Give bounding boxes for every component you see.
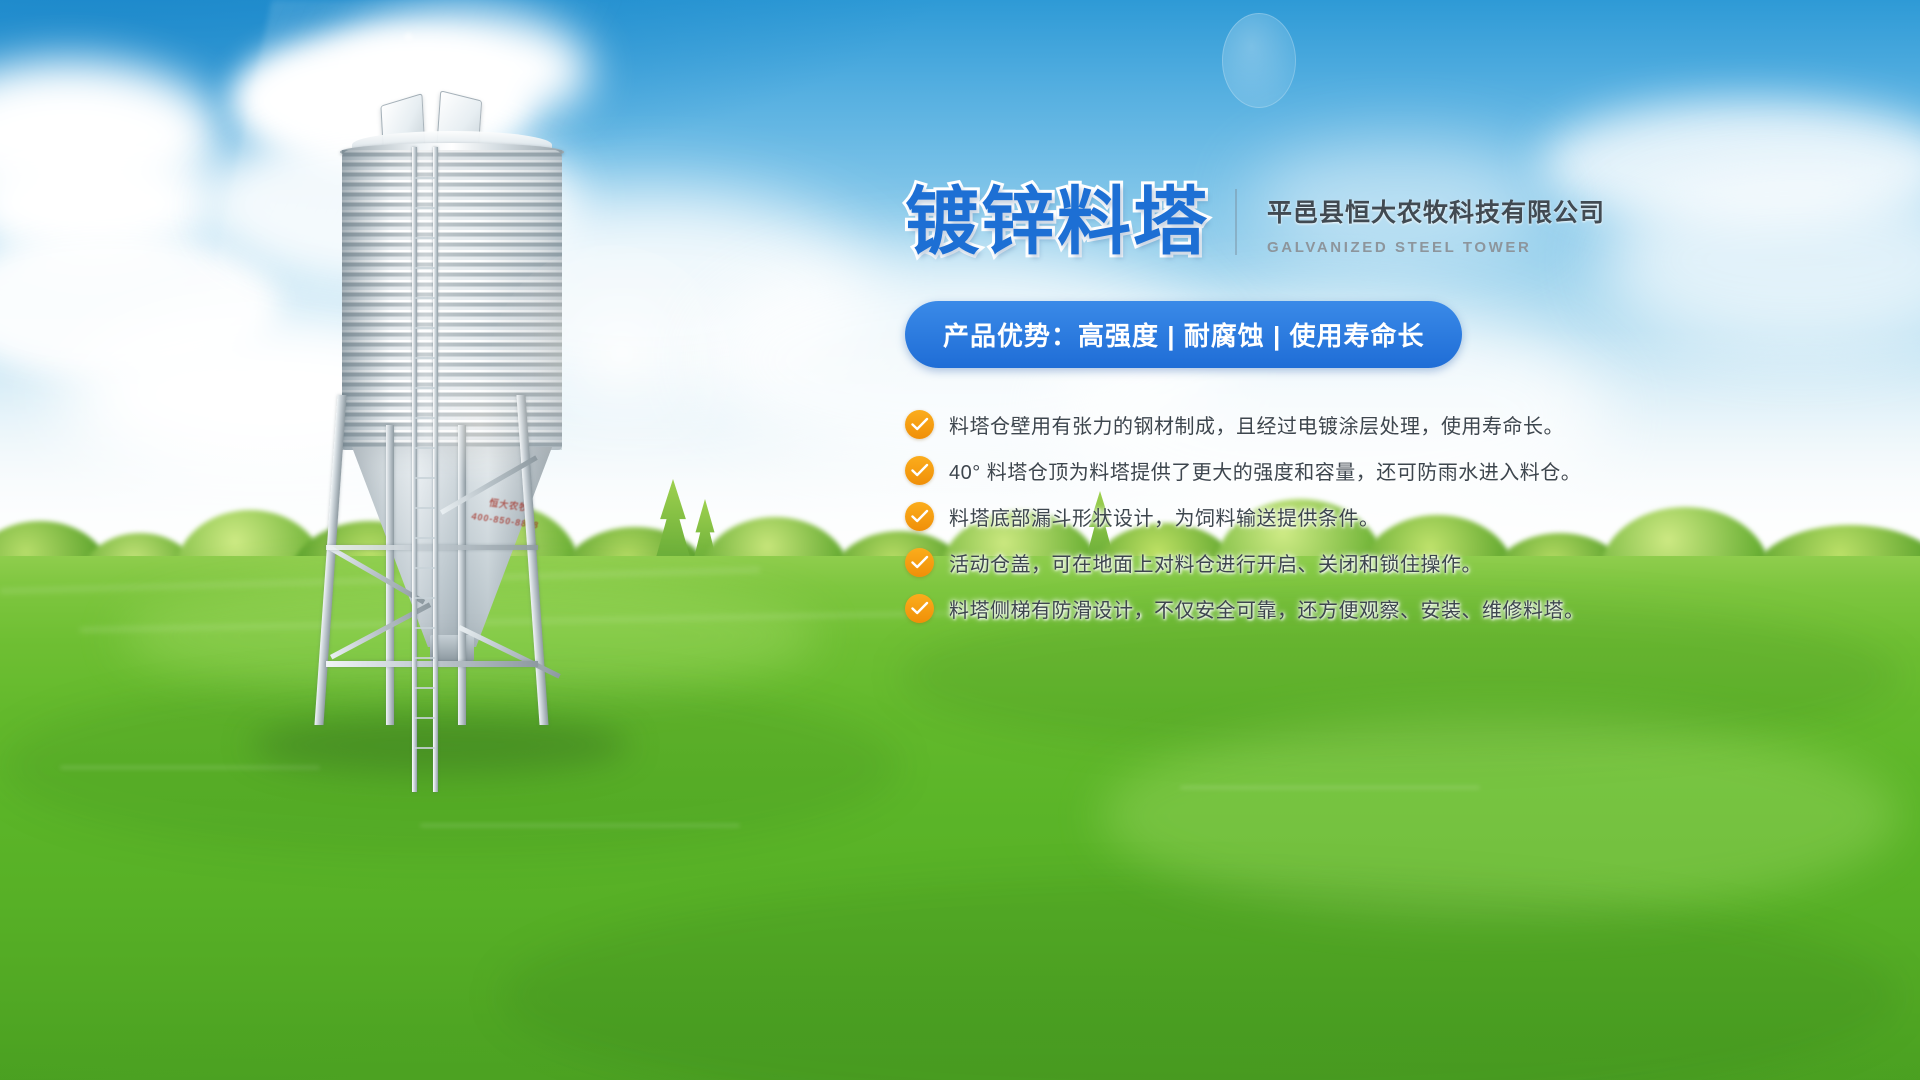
feature-text: 料塔仓壁用有张力的钢材制成，且经过电镀涂层处理，使用寿命长。 (949, 410, 1564, 439)
title-row: 镀锌料塔 平邑县恒大农牧科技有限公司 GALVANIZED STEEL TOWE… (905, 185, 1905, 259)
check-circle-icon (905, 456, 934, 485)
grass-streak (60, 766, 320, 769)
feature-text: 料塔侧梯有防滑设计，不仅安全可靠，还方便观察、安装、维修料塔。 (949, 594, 1585, 623)
lens-flare-dot-icon (404, 33, 413, 42)
page-title: 镀锌料塔 (905, 185, 1209, 259)
galvanized-silo-illustration: 恒大农牧 400-850-8818 (300, 95, 600, 745)
list-item: 料塔仓壁用有张力的钢材制成，且经过电镀涂层处理，使用寿命长。 (905, 410, 1905, 439)
feature-text: 料塔底部漏斗形状设计，为饲料输送提供条件。 (949, 502, 1380, 531)
feature-text: 40° 料塔仓顶为料塔提供了更大的强度和容量，还可防雨水进入料仓。 (949, 456, 1581, 485)
list-item: 料塔底部漏斗形状设计，为饲料输送提供条件。 (905, 502, 1905, 531)
lens-flare-circle-icon (1222, 13, 1296, 108)
feature-list: 料塔仓壁用有张力的钢材制成，且经过电镀涂层处理，使用寿命长。 40° 料塔仓顶为… (905, 410, 1905, 623)
text-panel: 镀锌料塔 平邑县恒大农牧科技有限公司 GALVANIZED STEEL TOWE… (905, 185, 1905, 640)
grass-shade (500, 876, 1900, 1080)
company-subtitle: GALVANIZED STEEL TOWER (1267, 239, 1605, 256)
list-item: 40° 料塔仓顶为料塔提供了更大的强度和容量，还可防雨水进入料仓。 (905, 456, 1905, 485)
grass-streak (420, 824, 740, 827)
list-item: 活动仓盖，可在地面上对料仓进行开启、关闭和锁住操作。 (905, 548, 1905, 577)
check-circle-icon (905, 548, 934, 577)
company-block: 平邑县恒大农牧科技有限公司 GALVANIZED STEEL TOWER (1267, 189, 1605, 256)
check-circle-icon (905, 410, 934, 439)
silo-leg (314, 395, 346, 725)
vertical-divider (1235, 189, 1237, 255)
sun-lens-flare-secondary (420, 365, 540, 485)
check-circle-icon (905, 594, 934, 623)
advantage-badge: 产品优势：高强度 | 耐腐蚀 | 使用寿命长 (905, 301, 1462, 368)
silo-leg (386, 425, 394, 725)
check-circle-icon (905, 502, 934, 531)
ladder-rail (412, 147, 417, 792)
company-name: 平邑县恒大农牧科技有限公司 (1267, 193, 1605, 229)
product-banner: 恒大农牧 400-850-8818 (0, 0, 1920, 1080)
list-item: 料塔侧梯有防滑设计，不仅安全可靠，还方便观察、安装、维修料塔。 (905, 594, 1905, 623)
silo-ground-shadow (250, 715, 630, 775)
ladder-rail (433, 147, 438, 792)
silo-side-ladder (412, 147, 438, 792)
feature-text: 活动仓盖，可在地面上对料仓进行开启、关闭和锁住操作。 (949, 548, 1482, 577)
grass-streak (1180, 786, 1480, 789)
